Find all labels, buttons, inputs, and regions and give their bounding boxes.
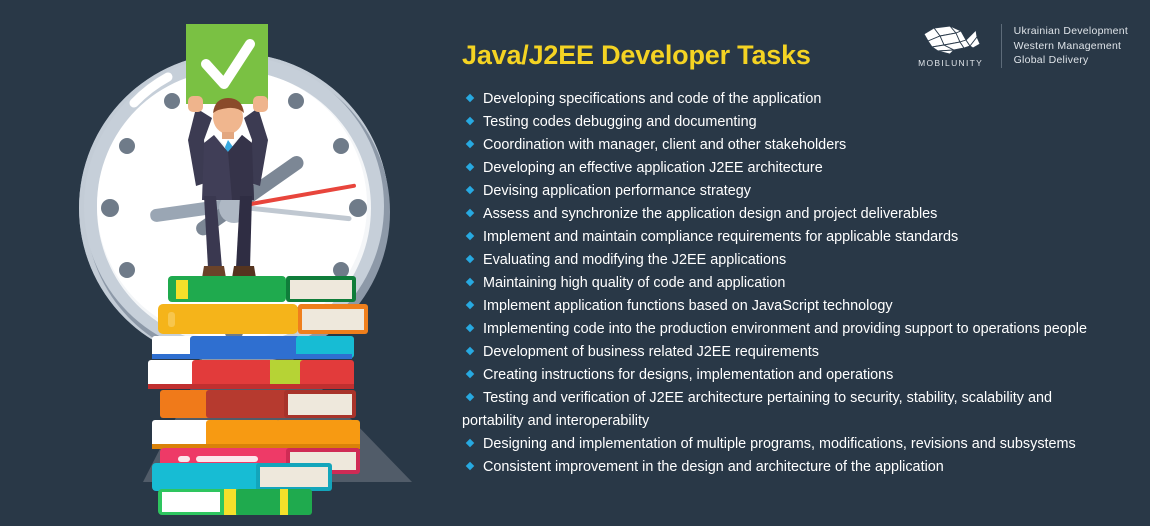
illustration [0,0,440,526]
task-list-item: Testing codes debugging and documenting [462,111,1102,134]
task-list-item: Developing an effective application J2EE… [462,157,1102,180]
task-label: Implement application functions based on… [483,298,893,314]
diamond-bullet-icon [466,393,474,401]
task-label: Evaluating and modifying the J2EE applic… [483,252,786,268]
task-label: Developing specifications and code of th… [483,91,821,107]
task-label: Devising application performance strateg… [483,183,751,199]
banner: MOBILUNITY Ukrainian Development Western… [0,0,1150,526]
task-label: Development of business related J2EE req… [483,344,819,360]
task-list-item: Consistent improvement in the design and… [462,456,1102,479]
diamond-bullet-icon [466,117,474,125]
task-list-item: Developing specifications and code of th… [462,88,1102,111]
diamond-bullet-icon [466,278,474,286]
diamond-bullet-icon [466,462,474,470]
diamond-bullet-icon [466,94,474,102]
task-list-item: Maintaining high quality of code and app… [462,272,1102,295]
task-list-item: Creating instructions for designs, imple… [462,364,1102,387]
task-list: Developing specifications and code of th… [462,88,1102,479]
task-list-item: Assess and synchronize the application d… [462,203,1102,226]
diamond-bullet-icon [466,439,474,447]
task-label: Testing codes debugging and documenting [483,114,757,130]
task-label: Creating instructions for designs, imple… [483,367,893,383]
task-label: Consistent improvement in the design and… [483,459,944,475]
task-list-item: Coordination with manager, client and ot… [462,134,1102,157]
task-label: Implement and maintain compliance requir… [483,229,958,245]
diamond-bullet-icon [466,186,474,194]
content-panel: Java/J2EE Developer Tasks Developing spe… [462,0,1122,526]
diamond-bullet-icon [466,324,474,332]
task-label: Implementing code into the production en… [483,321,1087,337]
task-label: Maintaining high quality of code and app… [483,275,785,291]
task-list-item: Implement application functions based on… [462,295,1102,318]
task-label: Testing and verification of J2EE archite… [462,390,1052,429]
diamond-bullet-icon [466,209,474,217]
task-list-item: Development of business related J2EE req… [462,341,1102,364]
checkmark-icon [186,24,268,104]
task-list-item: Implement and maintain compliance requir… [462,226,1102,249]
task-list-item: Testing and verification of J2EE archite… [462,387,1102,433]
page-title: Java/J2EE Developer Tasks [462,40,811,71]
task-list-item: Designing and implementation of multiple… [462,433,1102,456]
diamond-bullet-icon [466,255,474,263]
task-label: Coordination with manager, client and ot… [483,137,846,153]
task-list-item: Evaluating and modifying the J2EE applic… [462,249,1102,272]
task-list-item: Devising application performance strateg… [462,180,1102,203]
diamond-bullet-icon [466,163,474,171]
task-label: Assess and synchronize the application d… [483,206,937,222]
diamond-bullet-icon [466,347,474,355]
task-label: Designing and implementation of multiple… [483,436,1076,452]
diamond-bullet-icon [466,301,474,309]
diamond-bullet-icon [466,232,474,240]
diamond-bullet-icon [466,140,474,148]
diamond-bullet-icon [466,370,474,378]
task-list-item: Implementing code into the production en… [462,318,1102,341]
task-label: Developing an effective application J2EE… [483,160,823,176]
